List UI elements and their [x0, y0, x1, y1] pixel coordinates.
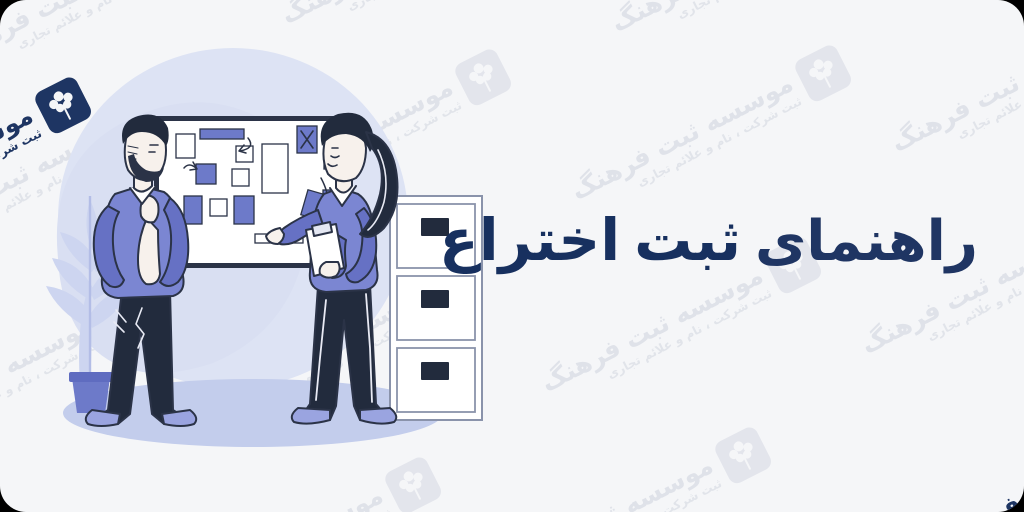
- watermark-company: موسسه ثبت فرهنگ: [537, 262, 767, 397]
- watermark-company: موسسه ثبت فرهنگ: [937, 418, 1024, 512]
- tree-logo-icon: [382, 454, 444, 512]
- hero-banner: موسسه ثبت فرهنگ ثبت شرکت ، نام و علائم ت…: [0, 0, 1024, 512]
- illustration-team-brainstorming: [18, 28, 498, 458]
- title-word-patent: اختراع: [439, 206, 620, 274]
- watermark-tagline: ثبت شرکت ، نام و علائم تجاری: [555, 477, 724, 512]
- title-word-register: ثبت: [634, 206, 741, 274]
- watermark-tile: موسسه ثبت فرهنگ ثبت شرکت ، نام و علائم ت…: [0, 0, 240, 16]
- watermark-tile: موسسه ثبت فرهنگ ثبت شرکت ، نام و علائم ت…: [880, 60, 1024, 106]
- watermark-company: موسسه ثبت فرهنگ: [607, 0, 837, 36]
- tree-logo-icon: [792, 42, 854, 104]
- watermark-tagline: ثبت شرکت ، نام و علائم تجاری: [345, 0, 514, 13]
- watermark-tagline: ثبت شرکت ، نام و علائم تجاری: [675, 0, 844, 21]
- watermark-tile-dark: موسسه ثبت فرهنگ ثبت شرکت ، نام و علائم ت…: [930, 456, 1024, 502]
- watermark-tile: موسسه ثبت فرهنگ ثبت شرکت ، نام و علائم ت…: [560, 108, 860, 154]
- watermark-company: موسسه ثبت فرهنگ: [567, 70, 797, 205]
- page-title: راهنمای ثبت اختراع: [439, 206, 978, 274]
- watermark-tile: موسسه ثبت فرهنگ ثبت شرکت ، نام و علائم ت…: [480, 490, 780, 512]
- watermark-tagline: ثبت شرکت ، نام و علائم تجاری: [635, 95, 804, 189]
- watermark-company: موسسه ثبت فرهنگ: [887, 22, 1024, 157]
- tree-logo-icon: [712, 424, 774, 486]
- watermark-tagline: ثبت شرکت ، نام و علائم تجاری: [1005, 443, 1024, 512]
- watermark-company: موسسه ثبت فرهنگ: [157, 482, 387, 512]
- watermark-company: موسسه ثبت فرهنگ: [487, 452, 717, 512]
- watermark-tagline: ثبت شرکت ، نام و علائم تجاری: [605, 287, 774, 381]
- watermark-tagline: ثبت شرکت ، نام و علائم تجاری: [955, 47, 1024, 141]
- title-word-guide: راهنمای: [755, 214, 978, 270]
- watermark-tagline: ثبت شرکت ، نام و علائم تجاری: [225, 507, 394, 512]
- watermark-company: موسسه ثبت فرهنگ: [277, 0, 507, 28]
- watermark-tile: موسسه ثبت فرهنگ ثبت شرکت ، نام و علائم ت…: [530, 300, 830, 346]
